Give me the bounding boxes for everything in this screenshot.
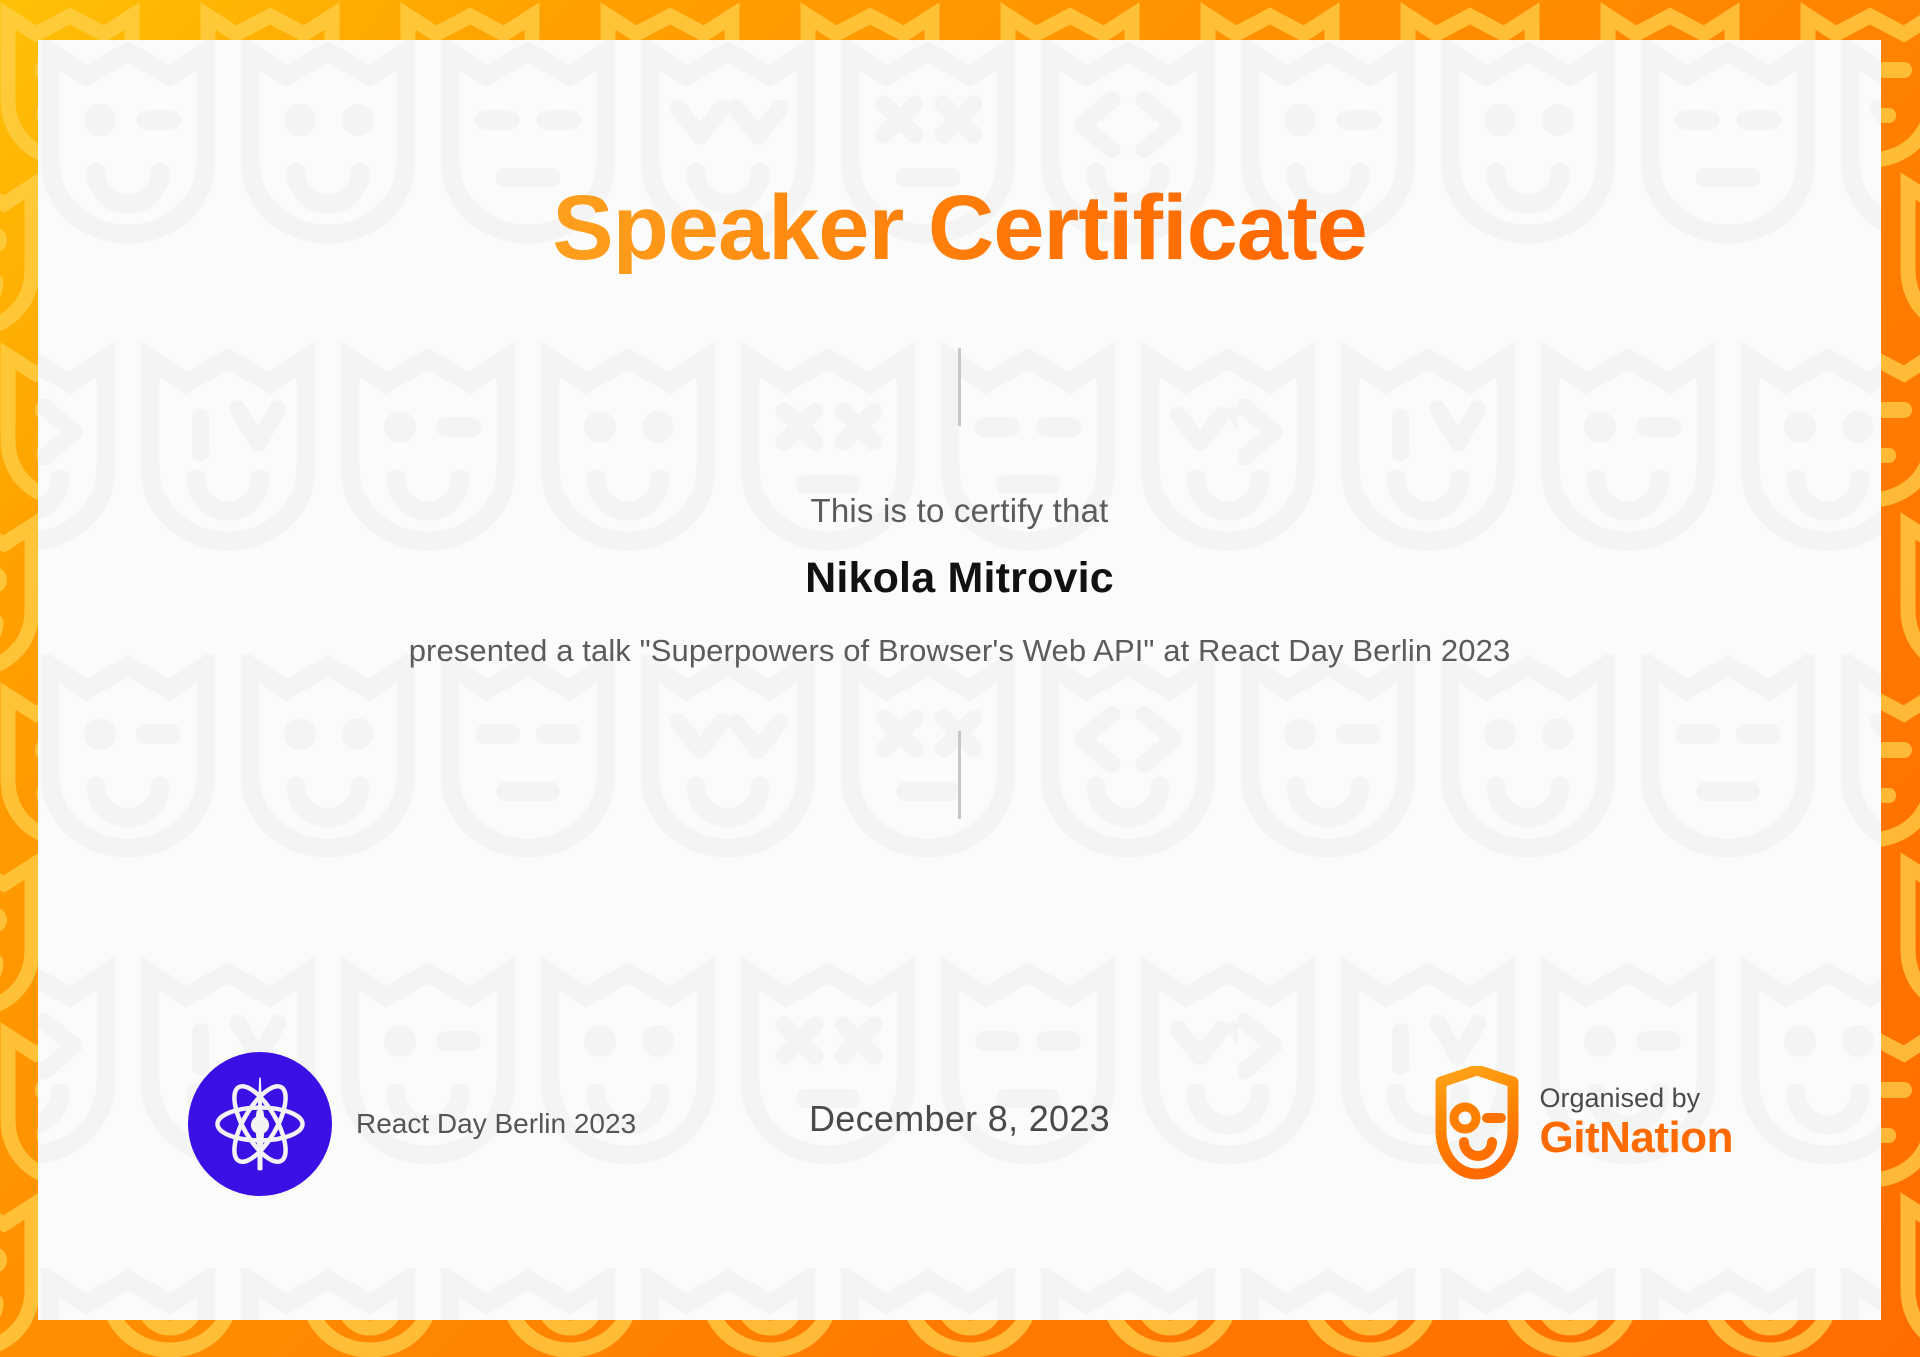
page-title: Speaker Certificate (552, 182, 1367, 274)
certificate-footer: React Day Berlin 2023 December 8, 2023 (38, 1052, 1881, 1202)
talk-description: presented a talk "Superpowers of Browser… (409, 633, 1511, 669)
certificate-card: Speaker Certificate This is to certify t… (38, 40, 1881, 1320)
recipient-name: Nikola Mitrovic (805, 554, 1114, 603)
vertical-divider-icon (958, 348, 961, 426)
certificate-frame: Speaker Certificate This is to certify t… (0, 0, 1920, 1357)
organiser-branding: Organised by GitNation (1434, 1066, 1733, 1180)
vertical-divider-icon (958, 731, 961, 819)
gitnation-wordmark: GitNation (1540, 1114, 1733, 1162)
organised-by-label: Organised by (1540, 1083, 1733, 1114)
certify-line: This is to certify that (810, 492, 1108, 530)
certificate-body: This is to certify that Nikola Mitrovic … (38, 492, 1881, 669)
gitnation-shield-mask-icon (1434, 1066, 1520, 1180)
